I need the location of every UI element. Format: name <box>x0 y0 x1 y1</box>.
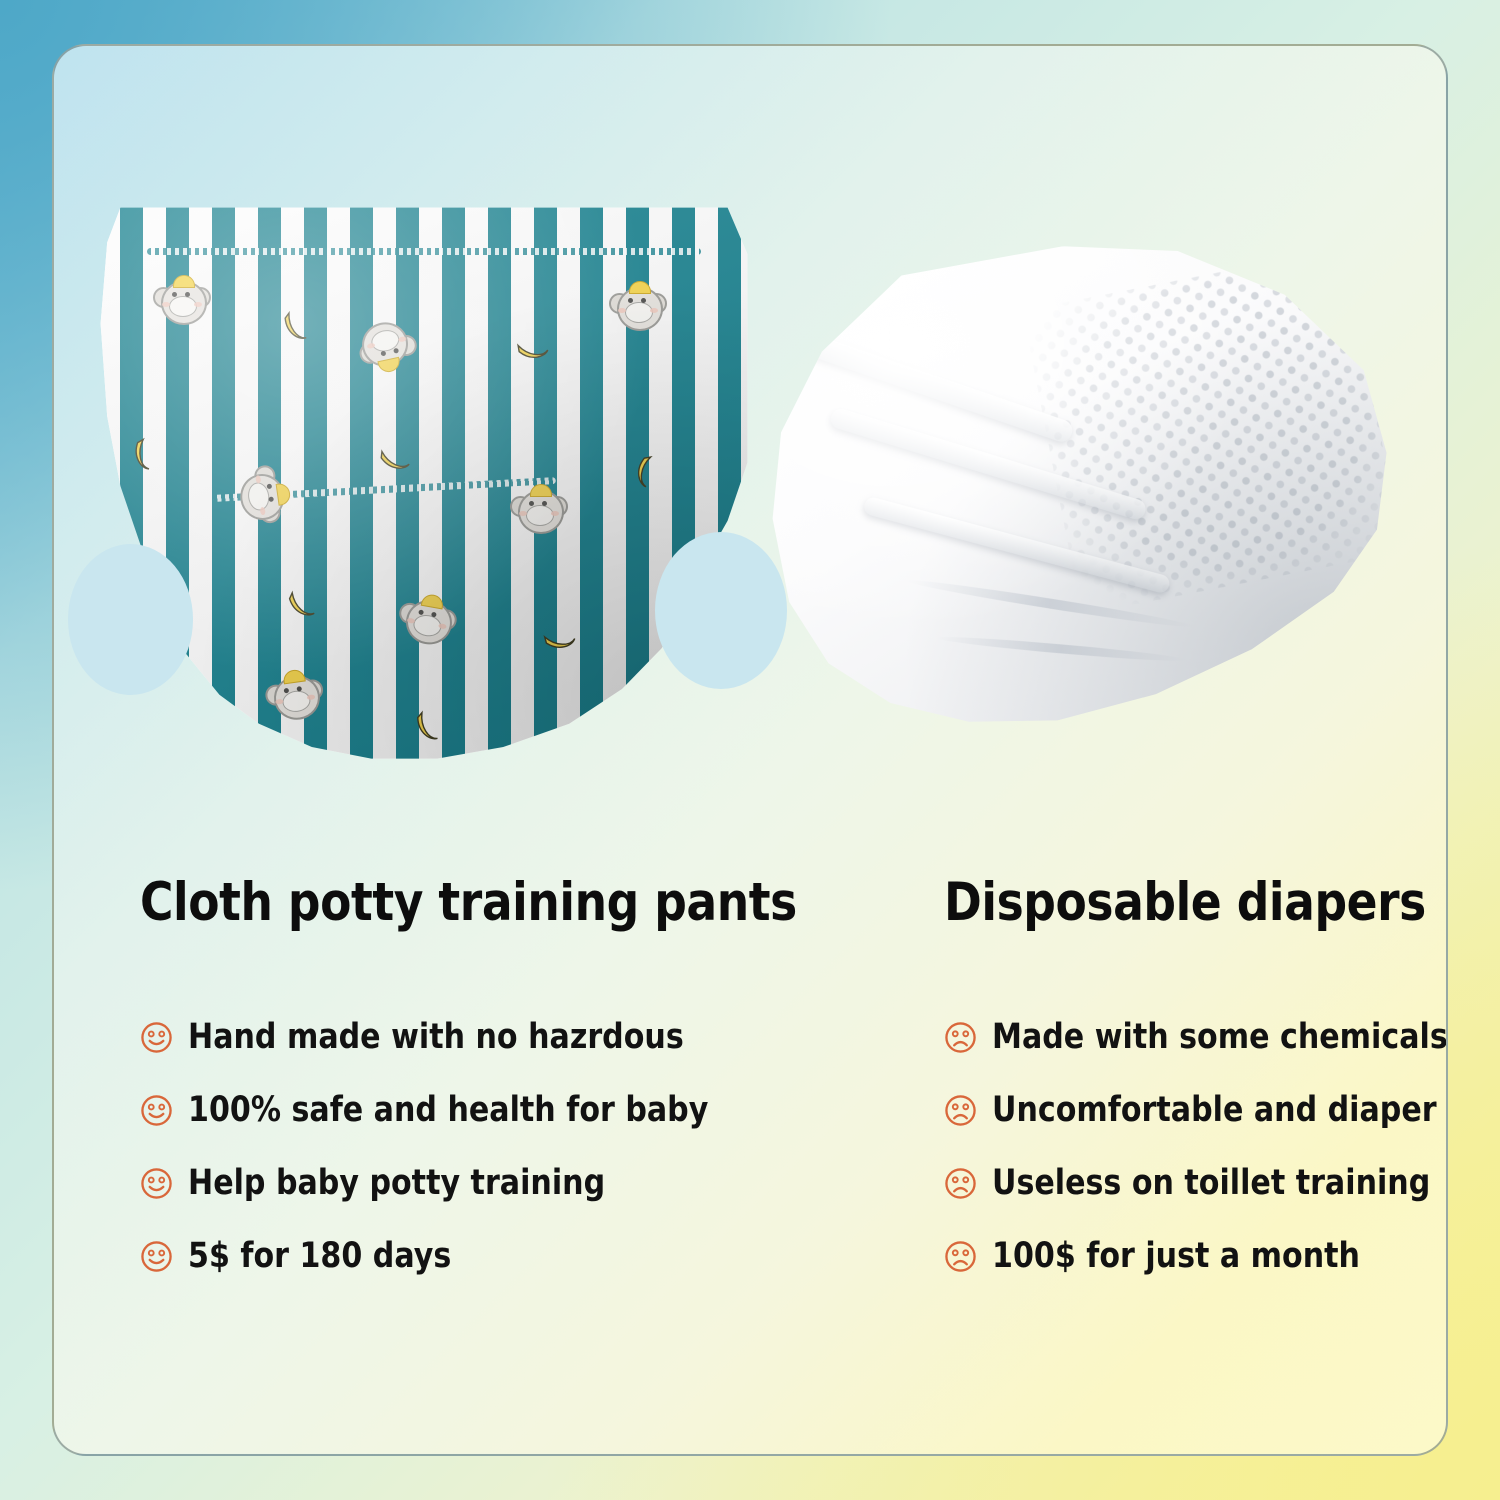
feature-text: 100% safe and health for baby <box>188 1093 708 1128</box>
feature-text: Made with some chemicals <box>992 1020 1448 1055</box>
comparison-column-disposable: Disposable diapers Made with some chemic… <box>904 876 1448 1436</box>
feature-row: Useless on toillet training <box>944 1147 1448 1220</box>
column-title-disposable: Disposable diapers <box>944 876 1448 929</box>
comparison-column-cloth: Cloth potty training pants Hand made wit… <box>54 876 904 1436</box>
sad-face-icon <box>944 1240 977 1273</box>
feature-row: 5$ for 180 days <box>140 1220 904 1293</box>
fabric-shading <box>94 196 754 776</box>
cloth-potty-training-pants-photo <box>94 196 754 776</box>
leg-opening-left <box>68 544 193 695</box>
feature-text: Help baby potty training <box>188 1166 605 1201</box>
column-title-cloth: Cloth potty training pants <box>140 876 797 929</box>
diaper-shading <box>738 209 1421 752</box>
smiley-face-icon <box>140 1167 173 1200</box>
comparison-section: Cloth potty training pants Hand made wit… <box>54 876 1446 1436</box>
sad-face-icon <box>944 1021 977 1054</box>
feature-text: 5$ for 180 days <box>188 1239 451 1274</box>
feature-row: 100$ for just a month <box>944 1220 1448 1293</box>
feature-row: Uncomfortable and diaper rash <box>944 1074 1448 1147</box>
smiley-face-icon <box>140 1021 173 1054</box>
disposable-diaper-photo <box>736 206 1416 776</box>
feature-row: 100% safe and health for baby <box>140 1074 904 1147</box>
feature-row: Made with some chemicals <box>944 1001 1448 1074</box>
framed-card: Cloth potty training pants Hand made wit… <box>52 44 1448 1456</box>
pants-silhouette <box>94 196 754 776</box>
feature-list-disposable: Made with some chemicals Uncomfortable a… <box>930 1001 1448 1293</box>
feature-text: Uncomfortable and diaper rash <box>992 1093 1448 1128</box>
feature-text: 100$ for just a month <box>992 1239 1360 1274</box>
product-image-band <box>54 46 1446 866</box>
diaper-silhouette <box>738 209 1421 752</box>
smiley-face-icon <box>140 1240 173 1273</box>
feature-row: Hand made with no hazrdous <box>140 1001 904 1074</box>
sad-face-icon <box>944 1094 977 1127</box>
sad-face-icon <box>944 1167 977 1200</box>
smiley-face-icon <box>140 1094 173 1127</box>
feature-text: Useless on toillet training <box>992 1166 1430 1201</box>
feature-text: Hand made with no hazrdous <box>188 1020 684 1055</box>
feature-row: Help baby potty training <box>140 1147 904 1220</box>
infographic-poster: Cloth potty training pants Hand made wit… <box>0 0 1500 1500</box>
feature-list-cloth: Hand made with no hazrdous 100% safe and… <box>90 1001 904 1293</box>
